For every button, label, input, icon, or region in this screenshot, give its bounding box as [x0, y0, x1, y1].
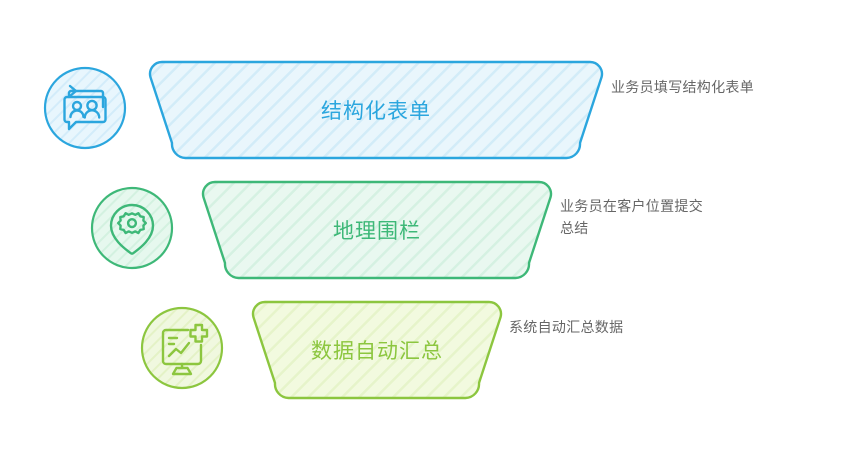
- funnel-stage-structured-form: 结构化表单 业务员填写结构化表单: [0, 50, 859, 170]
- funnel-shape-structured-form[interactable]: 结构化表单: [148, 60, 604, 160]
- stage-annotation-structured-form: 业务员填写结构化表单: [611, 76, 754, 98]
- funnel-shape-geofence[interactable]: 地理围栏: [201, 180, 553, 280]
- stage-icon-badge-geofence[interactable]: [90, 186, 174, 270]
- funnel-diagram-canvas: 结构化表单 业务员填写结构化表单: [0, 0, 859, 450]
- funnel-stage-auto-aggregate: 数据自动汇总 系统自动汇总数据: [0, 290, 859, 410]
- stage-icon-badge-structured-form[interactable]: [43, 66, 127, 150]
- stage-icon-badge-auto-aggregate[interactable]: [140, 306, 224, 390]
- stage-annotation-geofence: 业务员在客户位置提交 总结: [560, 195, 703, 239]
- stage-annotation-auto-aggregate: 系统自动汇总数据: [509, 316, 623, 338]
- funnel-shape-auto-aggregate[interactable]: 数据自动汇总: [251, 300, 503, 400]
- funnel-stage-geofence: 地理围栏 业务员在客户位置提交 总结: [0, 170, 859, 290]
